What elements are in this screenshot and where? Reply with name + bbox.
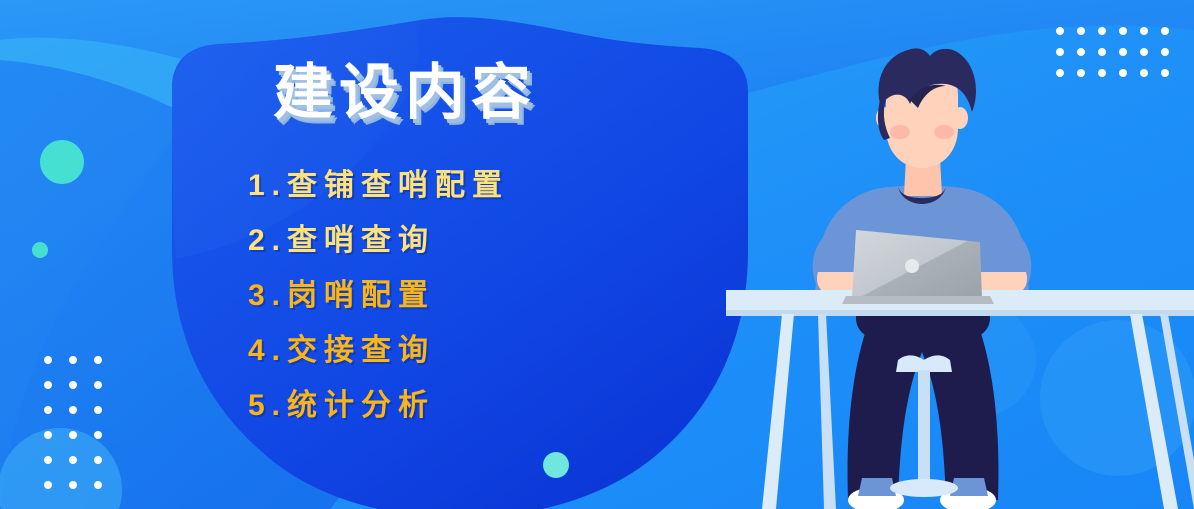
list-item[interactable]: 3.岗哨配置 bbox=[248, 268, 768, 323]
stool-column bbox=[918, 370, 930, 486]
laptop-base bbox=[842, 296, 994, 304]
list-item[interactable]: 2.查哨查询 bbox=[248, 213, 768, 268]
stool-seat bbox=[896, 355, 952, 372]
slide-canvas: 建设内容 1.查铺查哨配置 2.查哨查询 3.岗哨配置 4.交接查询 5.统计分… bbox=[0, 0, 1194, 509]
cheek-right bbox=[934, 125, 954, 139]
cheek-left bbox=[890, 125, 910, 139]
laptop-logo bbox=[905, 259, 919, 273]
page-title: 建设内容 bbox=[0, 44, 810, 131]
list-item[interactable]: 1.查铺查哨配置 bbox=[248, 158, 768, 213]
desk-edge bbox=[726, 310, 1194, 316]
content-list: 1.查铺查哨配置 2.查哨查询 3.岗哨配置 4.交接查询 5.统计分析 bbox=[248, 158, 768, 433]
desk-leg-left-back bbox=[818, 314, 836, 509]
stool-base bbox=[890, 479, 958, 497]
list-item[interactable]: 4.交接查询 bbox=[248, 323, 768, 378]
ear-right bbox=[952, 107, 968, 129]
list-item[interactable]: 5.统计分析 bbox=[248, 378, 768, 433]
